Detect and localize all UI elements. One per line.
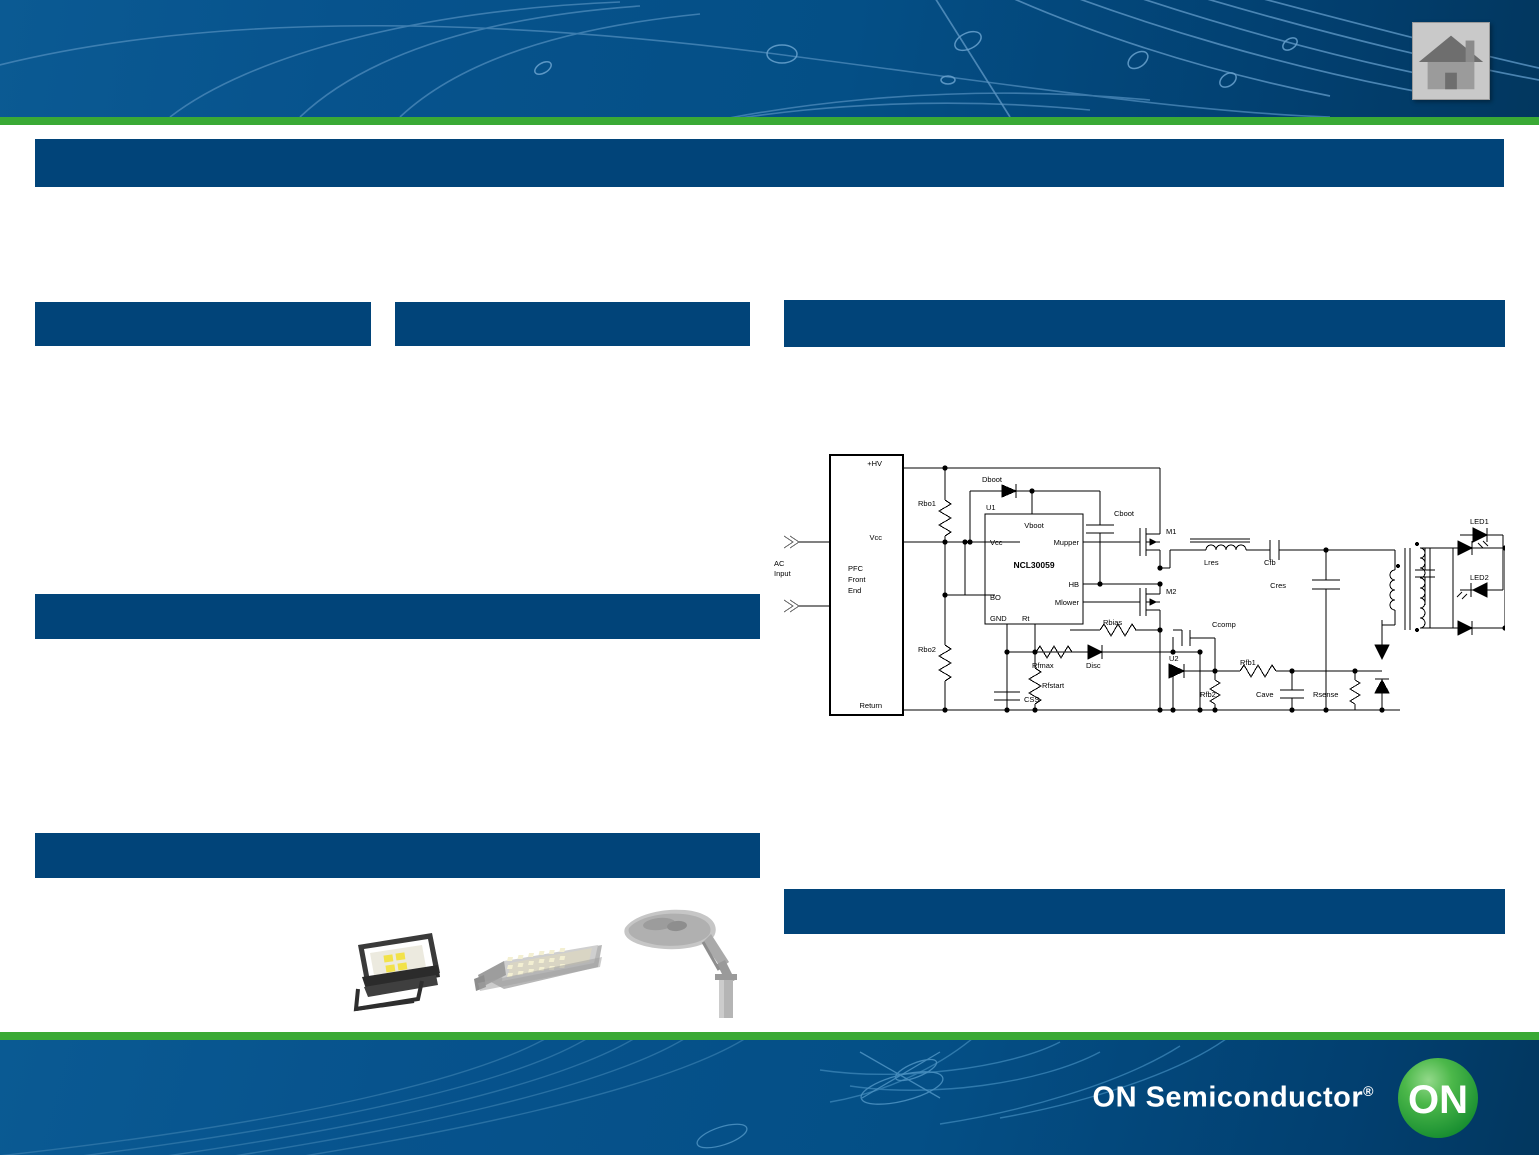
label-led1: LED1 (1470, 517, 1489, 526)
circuit-schematic: AC Input PFC Front End +HV Vcc Return Rb… (770, 440, 1505, 740)
section-bar-right-top (784, 300, 1505, 347)
section-bar-right-low (784, 889, 1505, 934)
led-street-lamp (615, 900, 745, 1020)
section-bar-middle (395, 302, 750, 346)
brand-registered-mark: ® (1363, 1082, 1374, 1098)
on-logo-text: ON (1408, 1078, 1468, 1122)
header-green-divider (0, 117, 1539, 125)
product-image-gallery (330, 895, 750, 1025)
header-decorative-art (0, 0, 1539, 117)
on-semiconductor-logo: ON (1397, 1057, 1479, 1139)
label-led2: LED2 (1470, 573, 1489, 582)
led-flood-light (340, 915, 450, 1020)
footer-green-divider (0, 1032, 1539, 1040)
footer-brand-name: ON Semiconductor® (1093, 1081, 1374, 1114)
section-bar-left-mid (35, 594, 760, 639)
schematic-led-output: LED1 LED2 (770, 440, 1505, 740)
page-title-bar (35, 139, 1504, 187)
brand-text: ON Semiconductor (1093, 1081, 1364, 1113)
home-icon (1413, 23, 1489, 99)
page-header (0, 0, 1539, 117)
page-footer: ON Semiconductor® ON (0, 1040, 1539, 1155)
led-street-light-module (470, 917, 610, 1017)
section-bar-left-low (35, 833, 760, 878)
home-button[interactable] (1412, 22, 1490, 100)
section-bar-left (35, 302, 371, 346)
page-root: AC Input PFC Front End +HV Vcc Return Rb… (0, 0, 1539, 1155)
